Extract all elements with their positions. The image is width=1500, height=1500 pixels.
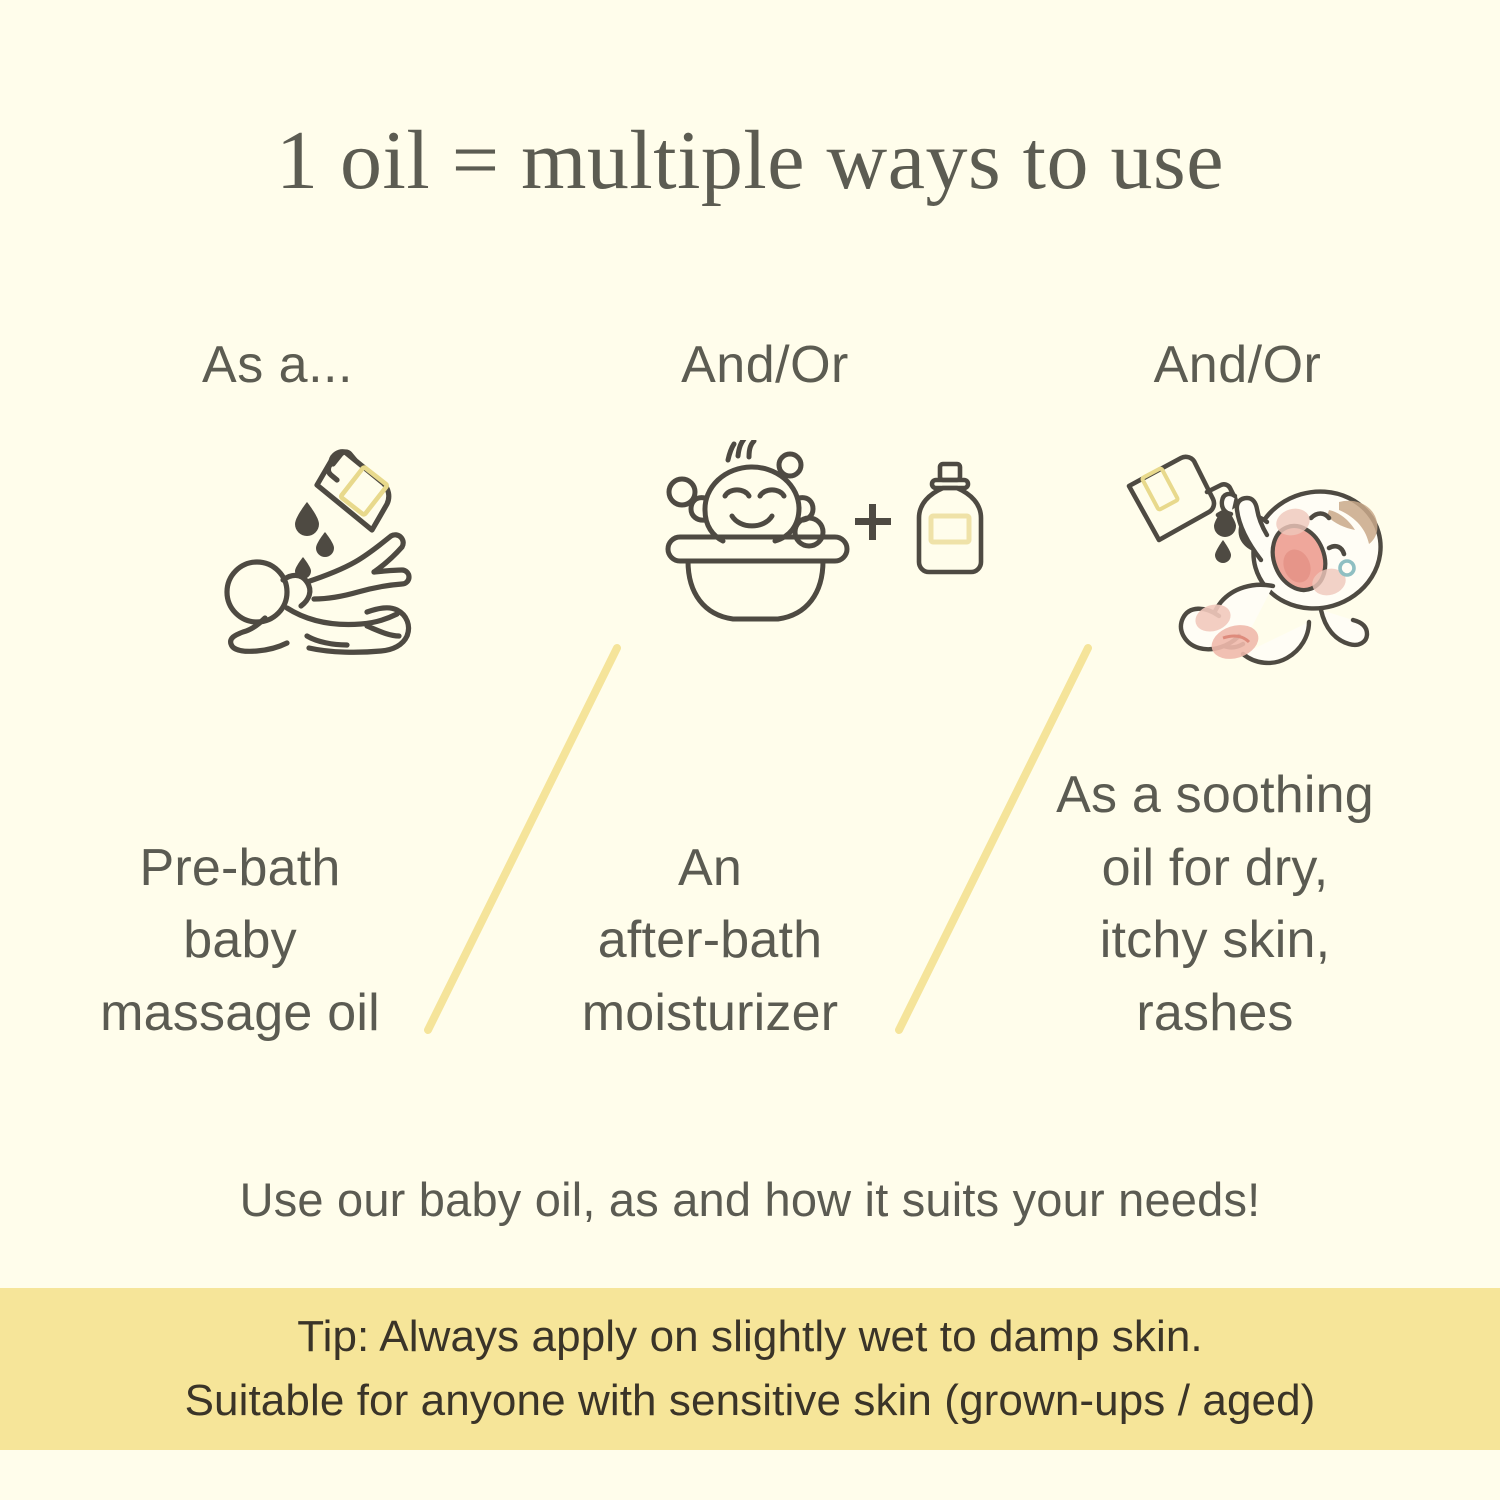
caption-line: As a soothing	[980, 759, 1450, 832]
caption-line: baby	[40, 904, 440, 977]
baby-massage-with-oil-bottle-icon	[215, 440, 475, 675]
caption-column-2: An after-bath moisturizer	[510, 832, 910, 1050]
caption-line: massage oil	[40, 977, 440, 1050]
heading-text-3: And/Or	[1154, 338, 1322, 393]
notched-divider	[0, 210, 1500, 300]
caption-column-3: As a soothing oil for dry, itchy skin, r…	[980, 759, 1450, 1050]
icon-row	[0, 440, 1500, 680]
caption-row: Pre-bath baby massage oil An after-bath …	[0, 800, 1500, 1050]
column-heading-row: As a... And/Or And/Or	[0, 338, 1500, 393]
caption-line: An	[510, 832, 910, 905]
caption-line: moisturizer	[510, 977, 910, 1050]
column-heading-2: And/Or	[555, 338, 975, 393]
baby-in-bathtub-plus-bottle-icon	[650, 440, 1000, 635]
closing-statement: Use our baby oil, as and how it suits yo…	[0, 1172, 1500, 1227]
column-heading-3: And/Or	[975, 338, 1500, 393]
caption-line: Pre-bath	[40, 832, 440, 905]
tip-banner: Tip: Always apply on slightly wet to dam…	[0, 1288, 1500, 1450]
caption-column-1: Pre-bath baby massage oil	[40, 832, 440, 1050]
crying-baby-with-rash-and-oil-bottle-icon	[1115, 440, 1415, 675]
column-heading-1: As a...	[0, 338, 555, 393]
tip-line-2: Suitable for anyone with sensitive skin …	[185, 1369, 1316, 1433]
tip-line-1: Tip: Always apply on slightly wet to dam…	[297, 1305, 1202, 1369]
infographic-canvas: 1 oil = multiple ways to use As a... And…	[0, 0, 1500, 1500]
caption-line: after-bath	[510, 904, 910, 977]
heading-text-2: And/Or	[681, 338, 849, 393]
page-title: 1 oil = multiple ways to use	[0, 116, 1500, 205]
plus-symbol-shape	[855, 504, 891, 540]
caption-line: rashes	[980, 977, 1450, 1050]
caption-line: oil for dry,	[980, 832, 1450, 905]
heading-text-1: As a...	[202, 338, 353, 393]
caption-line: itchy skin,	[980, 904, 1450, 977]
